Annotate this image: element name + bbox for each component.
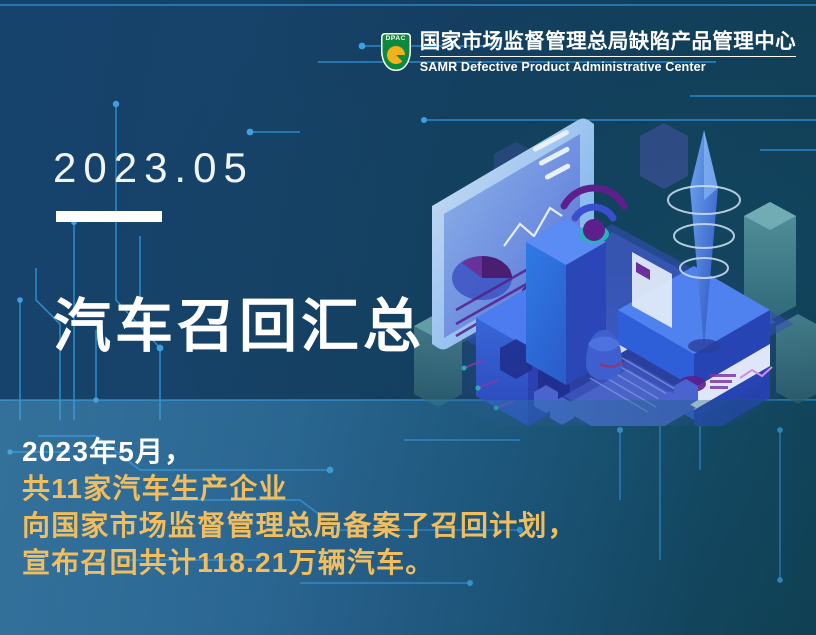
summary-text: 2023年5月， 共11家汽车生产企业 向国家市场监督管理总局备案了召回计划， … xyxy=(22,433,577,581)
recall-summary-poster: DPAC 国家市场监督管理总局缺陷产品管理中心 SAMR Defective P… xyxy=(0,0,816,635)
report-date: 2023.05 xyxy=(53,147,254,189)
dpac-shield-logo: DPAC xyxy=(381,33,411,71)
page-title: 汽车召回汇总 xyxy=(53,295,425,359)
organization-name: 国家市场监督管理总局缺陷产品管理中心 SAMR Defective Produc… xyxy=(420,30,796,74)
organization-name-cn: 国家市场监督管理总局缺陷产品管理中心 xyxy=(420,30,796,57)
pie-chart xyxy=(452,256,512,300)
summary-line-1: 2023年5月， xyxy=(22,433,577,470)
organization-name-en: SAMR Defective Product Administrative Ce… xyxy=(420,60,706,74)
title-divider-bar xyxy=(56,211,162,222)
summary-line-3: 向国家市场监督管理总局备案了召回计划， xyxy=(22,507,577,544)
summary-line-2: 共11家汽车生产企业 xyxy=(22,470,577,507)
brand-header: DPAC 国家市场监督管理总局缺陷产品管理中心 SAMR Defective P… xyxy=(381,30,796,74)
logo-pac-circle xyxy=(387,46,405,64)
illustration-isometric-city xyxy=(404,96,816,426)
dpac-logo-text: DPAC xyxy=(386,36,406,43)
summary-line-4: 宣布召回共计118.21万辆汽车。 xyxy=(22,544,577,581)
